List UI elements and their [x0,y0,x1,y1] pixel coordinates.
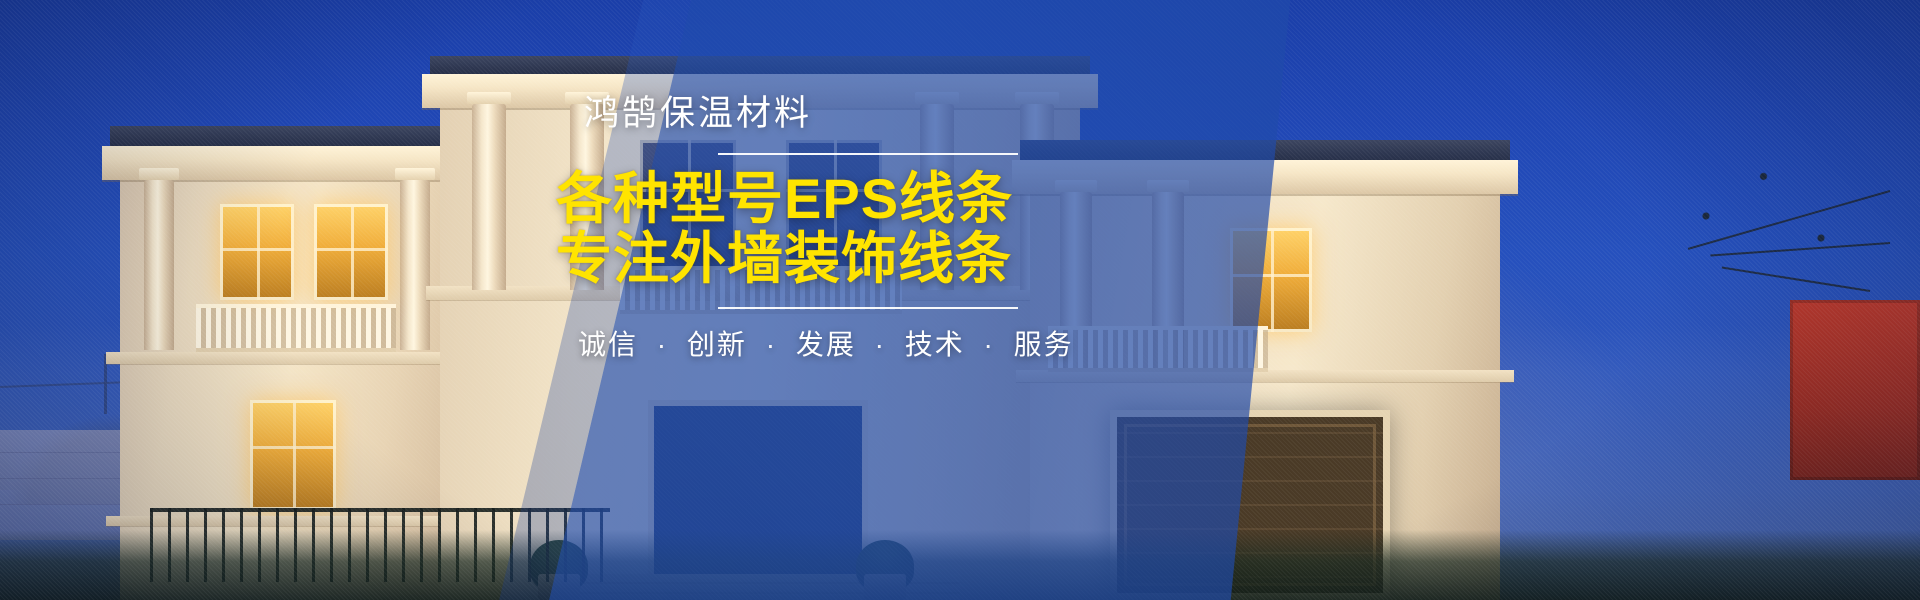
tagline-separator-2: · [766,329,777,360]
tagline-separator-3: · [875,329,886,360]
divider-bottom [718,307,1018,309]
column-l1 [144,180,174,350]
iron-fence-rail [150,508,610,512]
roof-center [430,56,1090,76]
window-r-upper-1 [1230,228,1312,332]
window-l-upper-1 [220,204,294,300]
headline: 各种型号EPS线条 专注外墙装饰线条 [556,169,1026,289]
tagline-item-4: 技术 [905,329,965,360]
column-l2 [400,180,430,350]
divider-top [718,153,1018,155]
roof-left [110,126,490,148]
tagline-item-1: 诚信 [578,329,638,360]
window-l-lower-1 [250,400,336,510]
banner-copy: 鸿鹄保温材料 各种型号EPS线条 专注外墙装饰线条 诚信 · 创新 · 发展 ·… [556,96,1026,359]
tagline-separator-1: · [657,329,668,360]
tagline-item-2: 创新 [687,329,747,360]
headline-line-1: 各种型号EPS线条 [556,169,1026,229]
string-course-left [106,352,494,364]
hero-banner: 鸿鹄保温材料 各种型号EPS线条 专注外墙装饰线条 诚信 · 创新 · 发展 ·… [0,0,1920,600]
tagline-item-3: 发展 [796,329,856,360]
roof-right [1020,140,1510,162]
tagline-separator-4: · [984,329,995,360]
balustrade-left-upper [196,304,396,352]
tagline: 诚信 · 创新 · 发展 · 技术 · 服务 [578,331,1026,359]
hedge-row [0,530,1920,600]
column-c1 [472,104,506,290]
tagline-item-5: 服务 [1014,329,1074,360]
tree-branch [1660,150,1890,370]
window-l-upper-2 [314,204,388,300]
brand-name: 鸿鹄保温材料 [584,96,1026,131]
balustrade-right [1048,326,1268,372]
headline-line-2: 专注外墙装饰线条 [556,229,1026,289]
